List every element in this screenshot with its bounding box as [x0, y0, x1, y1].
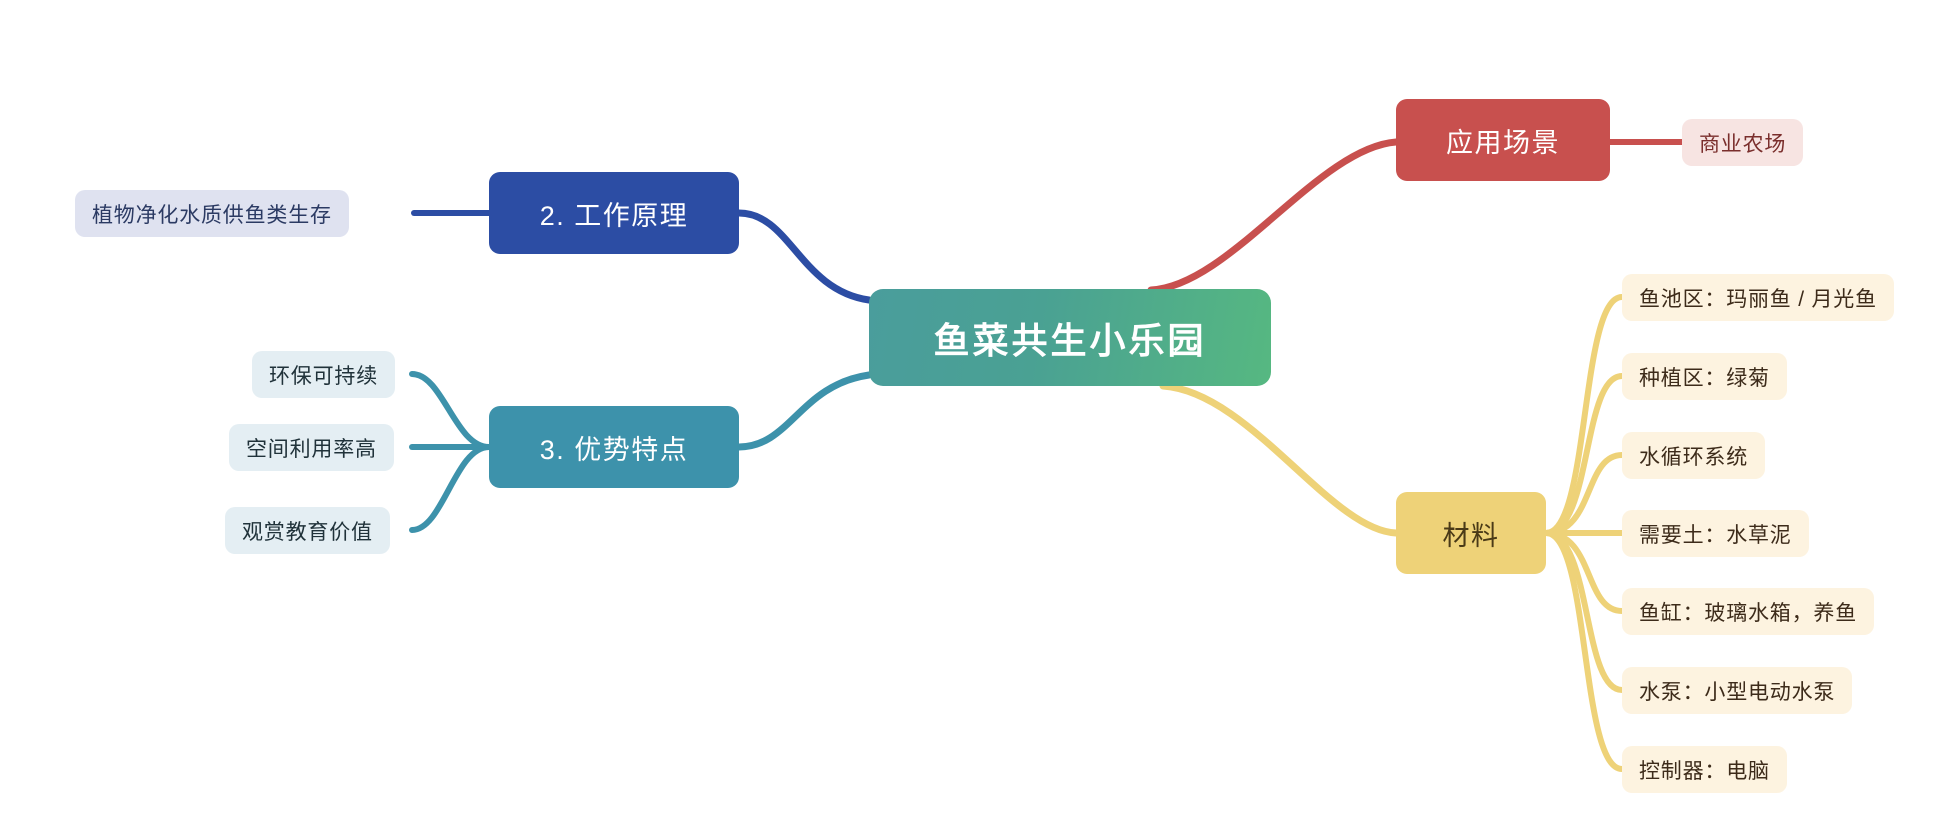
- leaf-node-materials-7[interactable]: 控制器：电脑: [1622, 746, 1787, 793]
- connector-advantages-to-leaf-1: [412, 374, 489, 447]
- branch-node-working-principle[interactable]: 2. 工作原理: [489, 172, 739, 254]
- leaf-node-materials-5[interactable]: 鱼缸：玻璃水箱，养鱼: [1622, 588, 1874, 635]
- connector-advantages-to-leaf-3: [412, 447, 489, 530]
- connector-materials-to-leaf-6: [1546, 533, 1622, 690]
- connector-root-to-advantages: [739, 375, 869, 447]
- connector-materials-to-leaf-3: [1546, 455, 1622, 533]
- connector-materials-to-leaf-5: [1546, 533, 1622, 611]
- leaf-node-advantages-1[interactable]: 环保可持续: [252, 351, 395, 398]
- leaf-node-materials-3[interactable]: 水循环系统: [1622, 432, 1765, 479]
- leaf-node-advantages-2[interactable]: 空间利用率高: [229, 424, 394, 471]
- leaf-node-application-scenarios-1[interactable]: 商业农场: [1682, 119, 1803, 166]
- leaf-node-materials-1[interactable]: 鱼池区：玛丽鱼 / 月光鱼: [1622, 274, 1894, 321]
- connector-materials-to-leaf-1: [1546, 297, 1622, 533]
- connector-root-to-materials: [1163, 386, 1396, 533]
- branch-node-advantages[interactable]: 3. 优势特点: [489, 406, 739, 488]
- leaf-node-materials-2[interactable]: 种植区：绿菊: [1622, 353, 1787, 400]
- leaf-node-materials-4[interactable]: 需要土：水草泥: [1622, 510, 1809, 557]
- connector-materials-to-leaf-7: [1546, 533, 1622, 769]
- connector-root-to-working-principle: [739, 213, 869, 300]
- branch-node-application-scenarios[interactable]: 应用场景: [1396, 99, 1610, 181]
- connector-materials-to-leaf-2: [1546, 376, 1622, 533]
- connector-root-to-application-scenarios: [1151, 142, 1396, 290]
- mindmap-canvas: 鱼菜共生小乐园 2. 工作原理 植物净化水质供鱼类生存 3. 优势特点 环保可持…: [0, 0, 1957, 821]
- branch-node-materials[interactable]: 材料: [1396, 492, 1546, 574]
- leaf-node-advantages-3[interactable]: 观赏教育价值: [225, 507, 390, 554]
- leaf-node-working-principle-1[interactable]: 植物净化水质供鱼类生存: [75, 190, 349, 237]
- root-node[interactable]: 鱼菜共生小乐园: [869, 289, 1271, 386]
- leaf-node-materials-6[interactable]: 水泵：小型电动水泵: [1622, 667, 1852, 714]
